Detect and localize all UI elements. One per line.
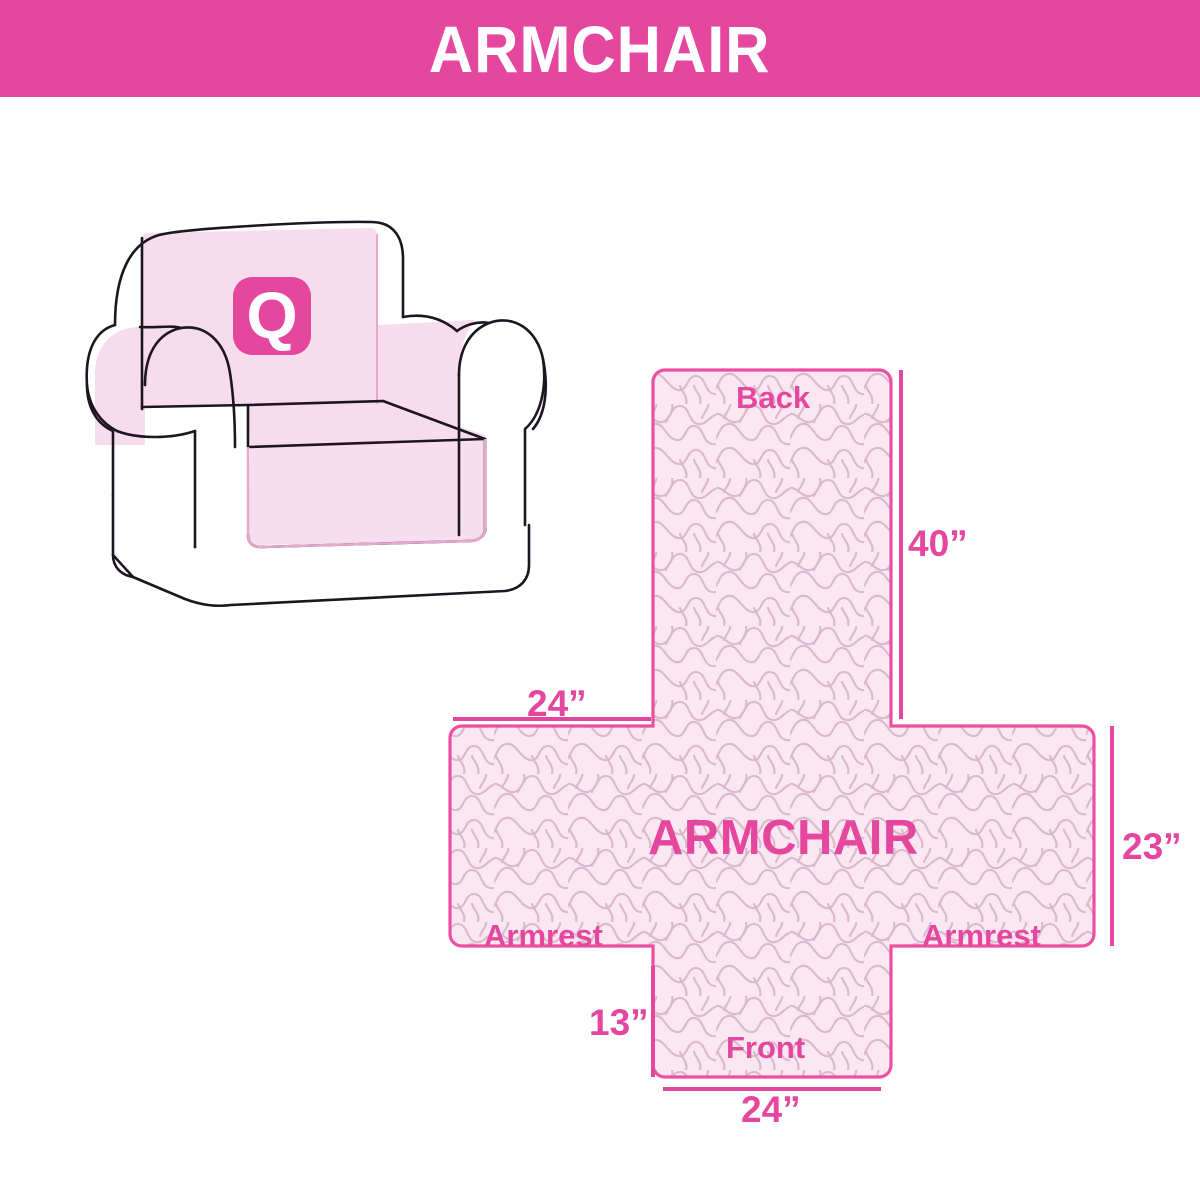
dimension-label-front-height: 13”: [589, 1004, 649, 1041]
dimension-label-back-width: 24”: [527, 685, 587, 722]
logo-letter-q: Q: [246, 278, 297, 352]
dimension-label-back-height: 40”: [908, 525, 968, 562]
slipcover-pattern-diagram: [420, 330, 1200, 1130]
panel-label-back: Back: [736, 382, 810, 413]
brand-logo: Q: [233, 277, 311, 355]
diagram-center-label: ARMCHAIR: [648, 814, 919, 863]
page-root: ARMCHAIR: [0, 0, 1200, 1200]
page-title: ARMCHAIR: [429, 16, 771, 82]
pattern-fabric-texture: [420, 330, 1200, 1130]
dimension-label-front-width: 24”: [741, 1091, 801, 1128]
dimension-label-armrest-height: 23”: [1122, 828, 1182, 865]
panel-label-armrest-left: Armrest: [484, 920, 603, 951]
panel-label-armrest-right: Armrest: [922, 920, 1041, 951]
panel-label-front: Front: [726, 1032, 805, 1063]
header-banner: ARMCHAIR: [0, 0, 1200, 97]
